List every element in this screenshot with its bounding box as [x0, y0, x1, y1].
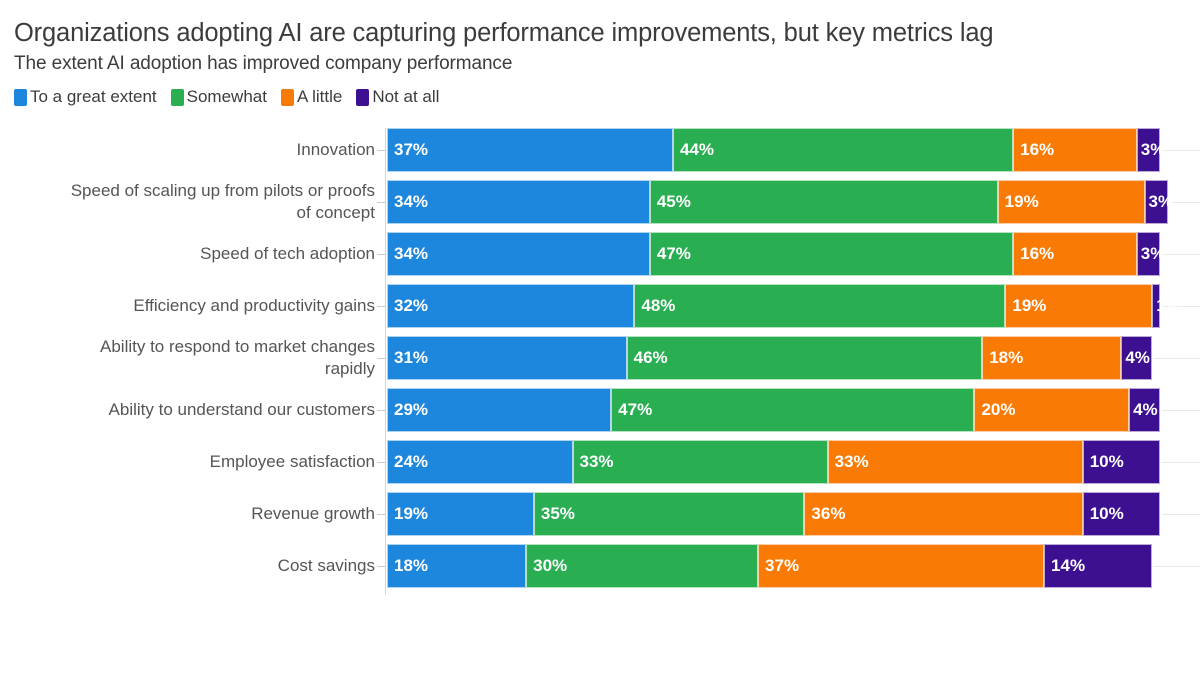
- bar-segment[interactable]: 3%: [1137, 128, 1160, 172]
- bar-value-label: 32%: [388, 296, 428, 316]
- stacked-bar: 32%48%19%1%: [387, 284, 1160, 328]
- bar-value-label: 31%: [388, 348, 428, 368]
- bar-segment[interactable]: 10%: [1083, 440, 1160, 484]
- axis-tick: [377, 462, 385, 463]
- category-label: Speed of scaling up from pilots or proof…: [5, 180, 375, 224]
- bar-value-label: 19%: [999, 192, 1039, 212]
- bar-value-label: 24%: [388, 452, 428, 472]
- chart-subtitle: The extent AI adoption has improved comp…: [14, 51, 1200, 77]
- bar-segment[interactable]: 35%: [534, 492, 805, 536]
- category-label: Innovation: [5, 139, 375, 161]
- stacked-bar: 34%45%19%3%: [387, 180, 1160, 224]
- category-label: Employee satisfaction: [5, 451, 375, 473]
- category-label: Speed of tech adoption: [5, 243, 375, 265]
- row-gridline: [1162, 306, 1200, 307]
- bar-rows: Innovation37%44%16%3%Speed of scaling up…: [0, 128, 1200, 596]
- bar-segment[interactable]: 44%: [673, 128, 1013, 172]
- category-label: Ability to understand our customers: [5, 399, 375, 421]
- bar-value-label: 20%: [975, 400, 1015, 420]
- bar-segment[interactable]: 46%: [627, 336, 983, 380]
- bar-value-label: 48%: [635, 296, 675, 316]
- chart-container: Organizations adopting AI are capturing …: [0, 0, 1200, 688]
- row-gridline: [1162, 410, 1200, 411]
- bar-segment[interactable]: 16%: [1013, 232, 1137, 276]
- bar-segment[interactable]: 48%: [634, 284, 1005, 328]
- row-gridline: [1162, 514, 1200, 515]
- bar-segment[interactable]: 47%: [611, 388, 974, 432]
- chart-legend: To a great extentSomewhatA littleNot at …: [0, 77, 1200, 107]
- legend-item[interactable]: Somewhat: [171, 87, 267, 107]
- legend-item-label: A little: [297, 87, 342, 107]
- legend-swatch-icon: [171, 89, 184, 106]
- axis-tick: [377, 306, 385, 307]
- bar-value-label: 47%: [651, 244, 691, 264]
- bar-value-label: 30%: [527, 556, 567, 576]
- legend-item[interactable]: A little: [281, 87, 342, 107]
- bar-value-label: 46%: [628, 348, 668, 368]
- chart-row: Cost savings18%30%37%14%: [0, 544, 1200, 588]
- bar-value-label: 34%: [388, 192, 428, 212]
- bar-value-label: 16%: [1014, 140, 1054, 160]
- bar-segment[interactable]: 19%: [387, 492, 534, 536]
- bar-segment[interactable]: 4%: [1121, 336, 1152, 380]
- chart-row: Ability to understand our customers29%47…: [0, 388, 1200, 432]
- bar-value-label: 10%: [1084, 504, 1124, 524]
- legend-item-label: Not at all: [372, 87, 439, 107]
- bar-value-label: 18%: [983, 348, 1023, 368]
- legend-item-label: To a great extent: [30, 87, 157, 107]
- stacked-bar: 18%30%37%14%: [387, 544, 1160, 588]
- bar-value-label: 19%: [1006, 296, 1046, 316]
- category-label: Cost savings: [5, 555, 375, 577]
- bar-segment[interactable]: 30%: [526, 544, 758, 588]
- plot-area: Innovation37%44%16%3%Speed of scaling up…: [0, 128, 1200, 606]
- chart-row: Ability to respond to market changes rap…: [0, 336, 1200, 380]
- chart-row: Speed of tech adoption34%47%16%3%: [0, 232, 1200, 276]
- legend-item-label: Somewhat: [187, 87, 267, 107]
- bar-segment[interactable]: 33%: [828, 440, 1083, 484]
- chart-row: Speed of scaling up from pilots or proof…: [0, 180, 1200, 224]
- stacked-bar: 37%44%16%3%: [387, 128, 1160, 172]
- bar-value-label: 35%: [535, 504, 575, 524]
- legend-item[interactable]: To a great extent: [14, 87, 157, 107]
- bar-segment[interactable]: 10%: [1083, 492, 1160, 536]
- bar-value-label: 18%: [388, 556, 428, 576]
- bar-value-label: 4%: [1122, 348, 1150, 368]
- category-label: Ability to respond to market changes rap…: [5, 336, 375, 380]
- axis-tick: [377, 566, 385, 567]
- bar-segment[interactable]: 29%: [387, 388, 611, 432]
- bar-segment[interactable]: 19%: [998, 180, 1145, 224]
- category-label: Efficiency and productivity gains: [5, 295, 375, 317]
- axis-tick: [377, 410, 385, 411]
- bar-segment[interactable]: 32%: [387, 284, 634, 328]
- chart-row: Efficiency and productivity gains32%48%1…: [0, 284, 1200, 328]
- stacked-bar: 34%47%16%3%: [387, 232, 1160, 276]
- bar-segment[interactable]: 37%: [758, 544, 1044, 588]
- bar-value-label: 44%: [674, 140, 714, 160]
- bar-value-label: 4%: [1130, 400, 1158, 420]
- bar-segment[interactable]: 19%: [1005, 284, 1152, 328]
- bar-segment[interactable]: 31%: [387, 336, 627, 380]
- stacked-bar: 31%46%18%4%: [387, 336, 1160, 380]
- axis-tick: [377, 254, 385, 255]
- bar-value-label: 19%: [388, 504, 428, 524]
- bar-value-label: 37%: [388, 140, 428, 160]
- bar-segment[interactable]: 47%: [650, 232, 1013, 276]
- chart-row: Revenue growth19%35%36%10%: [0, 492, 1200, 536]
- bar-value-label: 47%: [612, 400, 652, 420]
- bar-segment[interactable]: 20%: [974, 388, 1129, 432]
- bar-segment[interactable]: 37%: [387, 128, 673, 172]
- legend-swatch-icon: [281, 89, 294, 106]
- bar-segment[interactable]: 3%: [1137, 232, 1160, 276]
- bar-segment[interactable]: 4%: [1129, 388, 1160, 432]
- bar-segment[interactable]: 3%: [1145, 180, 1168, 224]
- category-label: Revenue growth: [5, 503, 375, 525]
- bar-value-label: 33%: [829, 452, 869, 472]
- axis-tick: [377, 358, 385, 359]
- bar-value-label: 36%: [805, 504, 845, 524]
- bar-value-label: 29%: [388, 400, 428, 420]
- stacked-bar: 19%35%36%10%: [387, 492, 1160, 536]
- bar-segment[interactable]: 45%: [650, 180, 998, 224]
- axis-tick: [377, 202, 385, 203]
- legend-swatch-icon: [14, 89, 27, 106]
- bar-value-label: 10%: [1084, 452, 1124, 472]
- bar-value-label: 45%: [651, 192, 691, 212]
- bar-segment[interactable]: 18%: [387, 544, 526, 588]
- chart-header: Organizations adopting AI are capturing …: [0, 0, 1200, 77]
- row-gridline: [1162, 150, 1200, 151]
- legend-item[interactable]: Not at all: [356, 87, 439, 107]
- bar-segment[interactable]: 24%: [387, 440, 573, 484]
- row-gridline: [1154, 566, 1200, 567]
- chart-row: Innovation37%44%16%3%: [0, 128, 1200, 172]
- page-title: Organizations adopting AI are capturing …: [14, 16, 1200, 50]
- bar-value-label: 16%: [1014, 244, 1054, 264]
- row-gridline: [1162, 254, 1200, 255]
- bar-segment[interactable]: 18%: [982, 336, 1121, 380]
- legend-swatch-icon: [356, 89, 369, 106]
- axis-tick: [377, 514, 385, 515]
- row-gridline: [1154, 358, 1200, 359]
- bar-value-label: 14%: [1045, 556, 1085, 576]
- bar-segment[interactable]: 34%: [387, 180, 650, 224]
- row-gridline: [1162, 462, 1200, 463]
- bar-value-label: 37%: [759, 556, 799, 576]
- chart-row: Employee satisfaction24%33%33%10%: [0, 440, 1200, 484]
- row-gridline: [1170, 202, 1200, 203]
- bar-value-label: 33%: [574, 452, 614, 472]
- stacked-bar: 29%47%20%4%: [387, 388, 1160, 432]
- bar-value-label: 34%: [388, 244, 428, 264]
- bar-segment[interactable]: 36%: [804, 492, 1082, 536]
- bar-segment[interactable]: 33%: [573, 440, 828, 484]
- stacked-bar: 24%33%33%10%: [387, 440, 1160, 484]
- bar-segment[interactable]: 14%: [1044, 544, 1152, 588]
- bar-segment[interactable]: 1%: [1152, 284, 1160, 328]
- axis-tick: [377, 150, 385, 151]
- bar-segment[interactable]: 34%: [387, 232, 650, 276]
- bar-segment[interactable]: 16%: [1013, 128, 1137, 172]
